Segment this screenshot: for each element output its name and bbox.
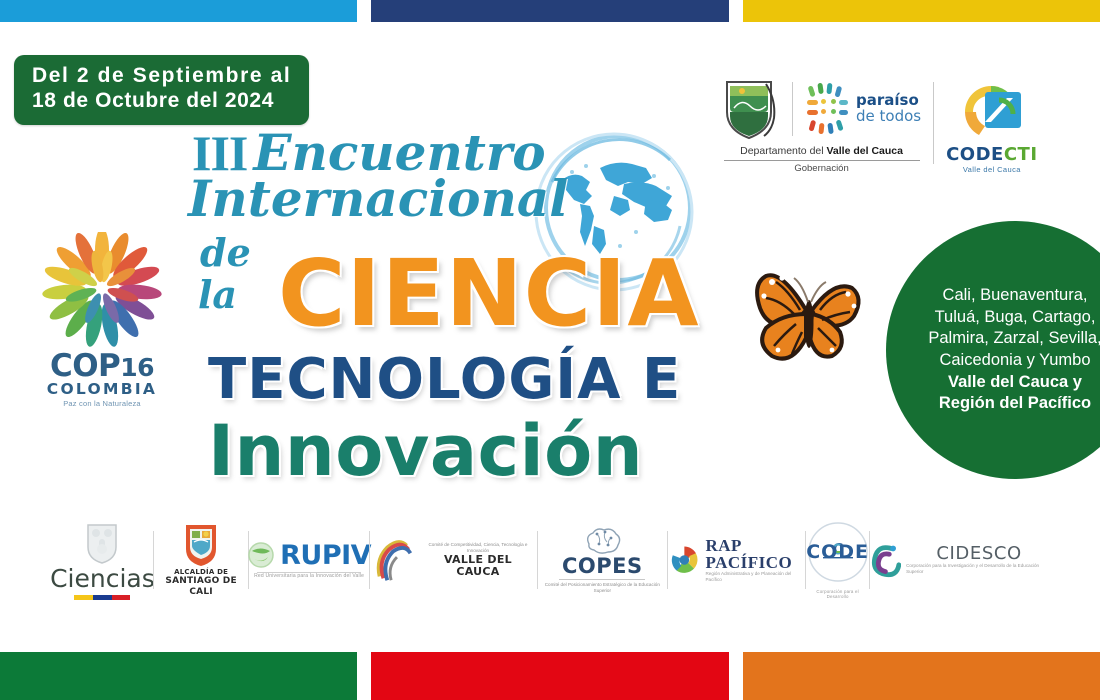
cali-shield-icon [182,522,220,568]
valle-label-block: Comité de Competitividad, Ciencia, Tecno… [419,542,537,578]
title-word-tecnologia: TECNOLOGÍA E [208,352,681,408]
codecti-code-text: CODE [946,144,1004,165]
partner-cidesco: CIDESCO Corporación para la Investigació… [870,514,1052,606]
rap-word-line-2: PACÍFICO [705,554,805,571]
cities-line-1: Cali, Buenaventura, [917,285,1100,306]
cities-line-4: Caicedonia y Yumbo [917,350,1100,371]
top-strip-block-yellow [743,0,1100,22]
partner-code: C CODE Corporación para el Desarrollo [806,514,869,606]
bottom-strip-block-orange [743,652,1100,700]
code-subtitle: Corporación para el Desarrollo [806,589,869,599]
cop16-number: 16 [120,353,154,382]
rap-word-line-1: RAP [705,537,805,554]
codecti-wordmark: CODECTI [946,144,1037,165]
paraiso-wordmark: paraíso de todos [856,93,921,125]
valle-del-cauca-shield-icon [722,78,780,140]
title-word-innovacion: Innovación [208,416,643,486]
partner-rupiv: RUPIV Red Universitaria para la Innovaci… [249,514,368,606]
gobernacion-caption-strong: Valle del Cauca [827,145,903,157]
colombia-shield-icon [82,521,122,565]
minciencias-wordmark: Ciencias [50,566,155,591]
partner-alcaldia-cali: ALCALDÍA DE SANTIAGO DE CALI [154,514,249,606]
gobernacion-subtitle: Gobernación [794,163,848,174]
codecti-swirl-icon [955,78,1029,142]
main-title: IIIEncuentro Internacional de la CIENCIA… [186,128,726,488]
gobernacion-valle-logo: paraíso de todos Departamento del Valle … [722,78,921,174]
title-word-ciencia: CIENCIA [278,248,700,340]
ribbon-icon [370,537,414,583]
cities-line-3: Palmira, Zarzal, Sevilla, [917,328,1100,349]
gobernacion-caption-rule [724,160,920,161]
cop16-tagline: Paz con la Naturaleza [36,399,168,408]
cop16-country: COLOMBIA [36,381,168,398]
title-word-la: la [198,276,237,313]
top-color-strip [0,0,1100,22]
partner-logo-strip: Ciencias ALCALDÍA DE SANTIAGO DE CALI [52,512,1052,608]
cities-line-2: Tuluá, Buga, Cartago, [917,307,1100,328]
valle-label-line-1: VALLE DEL [419,554,537,566]
rupiv-subtitle: Red Universitaria para la Innovación del… [254,573,364,579]
event-dates-line-2: 18 de Octubre del 2024 [32,89,291,114]
cities-list: Cali, Buenaventura, Tuluá, Buga, Cartago… [917,285,1100,371]
alcaldia-city: SANTIAGO DE CALI [165,576,236,597]
rap-logo-row: RAP PACÍFICO Región Administrativa y de … [668,537,805,583]
event-dates-badge: Del 2 de Septiembre al 18 de Octubre del… [14,55,309,125]
event-dates-line-1: Del 2 de Septiembre al [32,64,291,89]
brain-icon [581,526,623,556]
cop16-cop-text: COP [50,348,120,384]
locations-circle: Cali, Buenaventura, Tuluá, Buga, Cartago… [886,221,1100,479]
partner-copes: COPES Comité del Posicionamiento Estraté… [538,514,667,606]
valle-label-line-2: CAUCA [419,566,537,578]
codecti-cti-text: CTI [1004,144,1038,165]
valle-tiny-text: Comité de Competitividad, Ciencia, Tecno… [419,542,537,553]
codecti-logo: CODECTI Valle del Cauca [946,78,1037,174]
codecti-subtitle: Valle del Cauca [963,165,1021,174]
cidesco-swirl-icon [870,542,901,578]
partner-valle-competitividad: Comité de Competitividad, Ciencia, Tecno… [370,514,537,606]
paraiso-de-todos-logo: paraíso de todos [805,82,921,136]
rupiv-wordmark: RUPIV [280,542,371,569]
cidesco-wordmark: CIDESCO [906,545,1052,563]
copes-subtitle: Comité del Posicionamiento Estratégico d… [538,582,667,593]
gobernacion-caption: Departamento del Valle del Cauca [740,145,903,157]
bottom-color-strip [0,652,1100,700]
top-strip-block-navy [371,0,728,22]
alcaldia-prefix: ALCALDÍA DE [154,568,249,576]
codecti-divider [933,82,934,164]
bottom-strip-block-red [371,652,728,700]
top-strip-block-light-blue [0,0,357,22]
cop16-wordmark: COP16 [36,352,168,381]
rupiv-logo-row: RUPIV [247,541,371,569]
cidesco-wordmark-block: CIDESCO Corporación para la Investigació… [906,545,1052,575]
cidesco-subtitle: Corporación para la Investigación y el D… [906,563,1052,575]
colombia-flag-icon [74,595,130,600]
cop16-flower-burst-icon [36,232,168,350]
copes-wordmark: COPES [562,556,643,577]
rupiv-globe-icon [247,541,275,569]
copes-rule [559,579,645,580]
bottom-strip-block-green [0,652,357,700]
event-poster: Del 2 de Septiembre al 18 de Octubre del… [0,0,1100,700]
code-wordmark: CODE [806,541,869,563]
cop16-logo: COP16 COLOMBIA Paz con la Naturaleza [36,232,168,414]
partner-rap-pacifico: RAP PACÍFICO Región Administrativa y de … [668,514,805,606]
gobernacion-caption-prefix: Departamento del [740,145,826,157]
rap-wordmark-block: RAP PACÍFICO Región Administrativa y de … [705,537,805,583]
gov-logo-divider [792,82,793,136]
partner-minciencias: Ciencias [52,514,153,606]
region-label: Valle del Cauca y Región del Pacífico [917,372,1100,415]
cidesco-logo-row: CIDESCO Corporación para la Investigació… [870,542,1052,578]
gobernacion-logo-row: paraíso de todos [722,78,921,140]
region-line-1: Valle del Cauca y [917,372,1100,393]
paraiso-burst-icon [805,82,851,136]
alcaldia-cali-label: ALCALDÍA DE SANTIAGO DE CALI [154,568,249,598]
title-word-de: de [200,234,251,271]
region-line-2: Región del Pacífico [917,393,1100,414]
rap-subtitle: Región Administrativa y de Planeación de… [705,571,805,583]
rap-pacifico-swirl-icon [668,543,701,577]
valle-logo-row: Comité de Competitividad, Ciencia, Tecno… [370,537,537,583]
government-logos: paraíso de todos Departamento del Valle … [722,78,1038,174]
paraiso-line-2: de todos [856,109,921,125]
monarch-butterfly-icon [748,252,878,380]
title-line-internacional: Internacional [188,174,568,223]
